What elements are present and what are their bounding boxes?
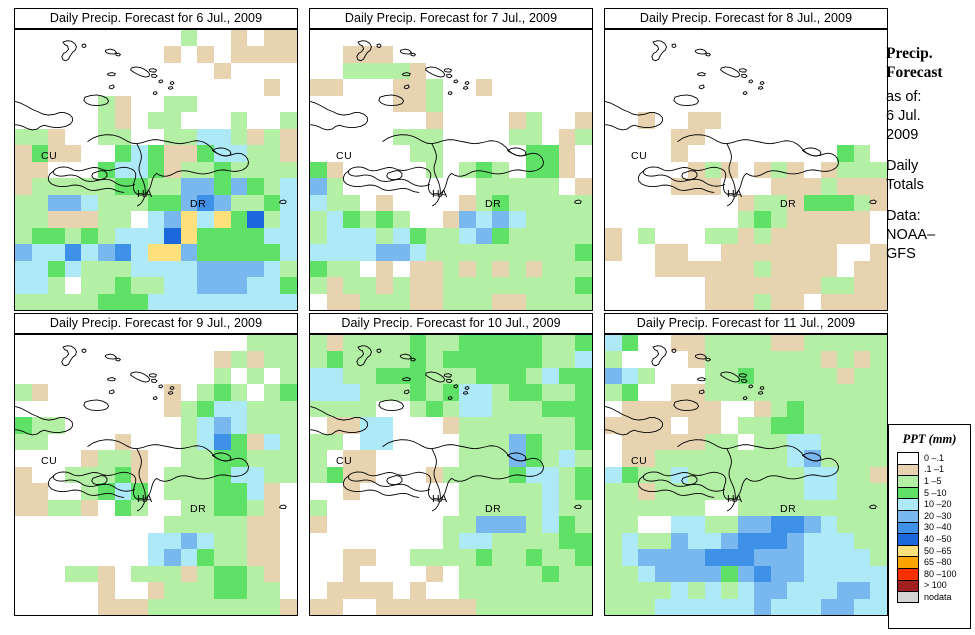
precip-cell xyxy=(638,384,655,400)
precip-cell xyxy=(837,483,854,499)
precip-cell xyxy=(48,384,65,400)
precip-cell xyxy=(542,467,559,483)
legend-swatch xyxy=(897,556,919,568)
precip-cell xyxy=(343,368,360,384)
precip-cell xyxy=(264,335,281,351)
precip-cell xyxy=(526,162,543,178)
precip-cell xyxy=(721,46,738,62)
precip-cell xyxy=(280,261,297,277)
precip-cell xyxy=(343,211,360,227)
precip-cell xyxy=(771,211,788,227)
precip-cell xyxy=(721,277,738,293)
precip-cell xyxy=(738,483,755,499)
precip-cell xyxy=(787,228,804,244)
precip-cell xyxy=(771,450,788,466)
precip-cell xyxy=(688,368,705,384)
precip-cell xyxy=(32,277,49,293)
precip-cell xyxy=(81,277,98,293)
precip-cell xyxy=(376,63,393,79)
legend-swatch xyxy=(897,498,919,510)
precip-cell xyxy=(164,467,181,483)
precip-cell xyxy=(738,533,755,549)
precip-cell xyxy=(870,549,887,565)
precip-cell xyxy=(164,30,181,46)
precip-cell xyxy=(310,294,327,310)
precip-cell xyxy=(65,599,82,615)
precip-cell xyxy=(754,261,771,277)
precip-cell xyxy=(310,483,327,499)
precip-cell xyxy=(32,549,49,565)
precip-cell xyxy=(264,129,281,145)
precip-cell xyxy=(65,261,82,277)
precip-cell xyxy=(343,129,360,145)
precip-cell xyxy=(738,368,755,384)
precip-cell xyxy=(181,195,198,211)
legend-row: 5 –10 xyxy=(897,487,970,499)
precip-cell xyxy=(310,417,327,433)
precip-cell xyxy=(622,599,639,615)
precip-cell xyxy=(181,46,198,62)
precip-cell xyxy=(360,145,377,161)
precip-cell xyxy=(821,30,838,46)
precip-cell xyxy=(48,467,65,483)
precip-cell xyxy=(115,401,132,417)
precip-cell xyxy=(98,46,115,62)
precip-cell xyxy=(821,533,838,549)
precip-cell xyxy=(476,549,493,565)
precip-cell xyxy=(131,483,148,499)
precip-cell xyxy=(32,79,49,95)
precip-cell xyxy=(98,129,115,145)
precip-cell xyxy=(837,277,854,293)
map-canvas-4[interactable]: CUHADR xyxy=(14,334,298,616)
legend-label: 40 –50 xyxy=(924,534,952,544)
precip-cell xyxy=(410,244,427,260)
legend-row: 0 –.1 xyxy=(897,452,970,464)
precip-cell xyxy=(754,145,771,161)
precip-cell xyxy=(575,549,592,565)
precip-cell xyxy=(181,599,198,615)
precip-cell xyxy=(343,467,360,483)
precip-cell xyxy=(231,244,248,260)
precip-cell xyxy=(655,401,672,417)
precip-cell xyxy=(327,533,344,549)
precip-cell xyxy=(81,178,98,194)
precip-cell xyxy=(804,582,821,598)
precip-cell xyxy=(721,384,738,400)
precip-cell xyxy=(32,483,49,499)
precip-cell xyxy=(605,533,622,549)
precip-cell xyxy=(492,566,509,582)
precip-cell xyxy=(526,483,543,499)
precip-cell xyxy=(671,195,688,211)
precip-cell xyxy=(310,351,327,367)
precip-cell xyxy=(131,112,148,128)
precip-cell xyxy=(738,162,755,178)
precip-cell xyxy=(231,129,248,145)
precip-cell xyxy=(247,483,264,499)
precip-cell xyxy=(459,46,476,62)
precip-cell xyxy=(15,211,32,227)
precip-cell xyxy=(688,401,705,417)
precip-cell xyxy=(280,434,297,450)
precip-cell xyxy=(426,566,443,582)
precip-cell xyxy=(526,582,543,598)
precip-cell xyxy=(81,96,98,112)
precip-cell xyxy=(164,384,181,400)
precip-cell xyxy=(65,294,82,310)
precip-cell xyxy=(264,30,281,46)
precip-cell xyxy=(32,244,49,260)
precip-cell xyxy=(605,450,622,466)
precip-cell xyxy=(443,516,460,532)
precip-cell xyxy=(197,30,214,46)
precip-cell xyxy=(443,549,460,565)
precip-cell xyxy=(459,162,476,178)
precip-cell xyxy=(164,335,181,351)
precip-cell xyxy=(32,384,49,400)
precip-cell xyxy=(115,79,132,95)
precip-cell xyxy=(575,417,592,433)
precip-cell xyxy=(705,417,722,433)
precip-cell xyxy=(360,368,377,384)
precip-cell xyxy=(393,63,410,79)
precip-cell xyxy=(197,244,214,260)
legend-rows: 0 –.1.1 –11 –55 –1010 –2020 –3030 –4040 … xyxy=(897,452,970,603)
precip-cell xyxy=(804,162,821,178)
precip-cell xyxy=(542,549,559,565)
precip-cell xyxy=(98,582,115,598)
precip-cell xyxy=(231,79,248,95)
precip-cell xyxy=(376,145,393,161)
precip-cell xyxy=(164,63,181,79)
precip-cell xyxy=(310,384,327,400)
precip-cell xyxy=(115,277,132,293)
precip-cell xyxy=(671,549,688,565)
precip-cell xyxy=(622,63,639,79)
precip-cell xyxy=(280,533,297,549)
precip-cell xyxy=(738,434,755,450)
precip-cell xyxy=(575,335,592,351)
precip-cell xyxy=(575,450,592,466)
precip-cell xyxy=(837,500,854,516)
precip-cell xyxy=(787,401,804,417)
precip-cell xyxy=(476,96,493,112)
precip-cell xyxy=(115,244,132,260)
precip-cell xyxy=(821,277,838,293)
precip-cell xyxy=(98,467,115,483)
precip-cell xyxy=(264,261,281,277)
precip-cell xyxy=(148,582,165,598)
precip-cell xyxy=(854,434,871,450)
precip-cell xyxy=(426,450,443,466)
precip-cell xyxy=(181,112,198,128)
precip-cell xyxy=(164,244,181,260)
precip-cell xyxy=(443,500,460,516)
precip-cell xyxy=(854,483,871,499)
precip-cell xyxy=(721,417,738,433)
precip-cell xyxy=(214,434,231,450)
precip-cell xyxy=(705,211,722,227)
precip-cell xyxy=(721,112,738,128)
precip-cell xyxy=(115,582,132,598)
precip-cell xyxy=(671,30,688,46)
precip-cell xyxy=(655,211,672,227)
precip-cell xyxy=(343,483,360,499)
precip-cell xyxy=(181,434,198,450)
precip-cell xyxy=(476,417,493,433)
precip-cell xyxy=(214,500,231,516)
precip-cell xyxy=(509,129,526,145)
precip-cell xyxy=(721,483,738,499)
precip-cell xyxy=(492,112,509,128)
precip-cell xyxy=(787,434,804,450)
precip-cell xyxy=(754,450,771,466)
precip-cell xyxy=(754,582,771,598)
precip-cell xyxy=(131,46,148,62)
precip-cell xyxy=(622,549,639,565)
precip-cell xyxy=(197,599,214,615)
precip-cell xyxy=(410,335,427,351)
precip-cell xyxy=(360,112,377,128)
map-canvas-2[interactable]: CUHADR xyxy=(309,29,593,311)
precip-cell xyxy=(509,417,526,433)
precip-cell xyxy=(705,516,722,532)
precip-cell xyxy=(787,351,804,367)
precip-cell xyxy=(426,294,443,310)
map-canvas-5[interactable]: CUHADR xyxy=(309,334,593,616)
precip-cell xyxy=(787,599,804,615)
precip-cell xyxy=(443,450,460,466)
precip-cell xyxy=(605,417,622,433)
precip-cell xyxy=(15,244,32,260)
legend-title: PPT (mm) xyxy=(889,432,970,447)
precip-cell xyxy=(393,483,410,499)
precip-cell xyxy=(688,599,705,615)
precip-cell xyxy=(854,63,871,79)
precip-cell xyxy=(360,533,377,549)
precip-cell xyxy=(98,145,115,161)
precip-cell xyxy=(410,582,427,598)
precip-cell xyxy=(376,162,393,178)
precip-cell xyxy=(310,500,327,516)
precip-cell xyxy=(197,417,214,433)
precip-cell xyxy=(671,294,688,310)
precip-cell xyxy=(476,30,493,46)
precip-cell xyxy=(81,483,98,499)
legend-row: > 100 xyxy=(897,580,970,592)
precip-cell xyxy=(264,516,281,532)
precip-cell xyxy=(247,277,264,293)
precip-cell xyxy=(638,79,655,95)
precip-cell xyxy=(81,384,98,400)
precip-cell xyxy=(837,244,854,260)
precip-cell xyxy=(443,112,460,128)
precip-cell xyxy=(638,162,655,178)
precip-cell xyxy=(459,228,476,244)
precip-cell xyxy=(426,261,443,277)
precip-cell xyxy=(247,533,264,549)
precip-cell xyxy=(197,582,214,598)
precip-cell xyxy=(280,96,297,112)
precip-cell xyxy=(410,112,427,128)
precip-cell xyxy=(32,63,49,79)
precip-cell xyxy=(343,500,360,516)
precip-cell xyxy=(804,533,821,549)
precip-cell xyxy=(327,244,344,260)
precip-cell xyxy=(131,79,148,95)
precip-cell xyxy=(393,145,410,161)
precip-cell xyxy=(393,566,410,582)
precip-cell xyxy=(542,599,559,615)
precip-cell xyxy=(476,401,493,417)
precip-cell xyxy=(280,294,297,310)
precip-cell xyxy=(376,566,393,582)
precip-cell xyxy=(181,500,198,516)
precip-cell xyxy=(327,195,344,211)
precip-cell xyxy=(98,368,115,384)
precip-cell xyxy=(48,450,65,466)
precip-cell xyxy=(410,277,427,293)
legend-row: 1 –5 xyxy=(897,475,970,487)
precip-cell xyxy=(671,351,688,367)
precip-cell xyxy=(605,79,622,95)
precip-cell xyxy=(393,277,410,293)
precip-cell xyxy=(721,294,738,310)
precip-cell xyxy=(622,277,639,293)
legend-row: 10 –20 xyxy=(897,498,970,510)
precip-cell xyxy=(443,244,460,260)
precip-cell xyxy=(542,277,559,293)
precip-cell xyxy=(492,483,509,499)
precip-cell xyxy=(754,599,771,615)
precip-cell xyxy=(343,599,360,615)
precip-cell xyxy=(376,335,393,351)
precip-cell xyxy=(688,129,705,145)
precip-cell xyxy=(98,351,115,367)
precip-grid-6 xyxy=(605,335,887,615)
precip-cell xyxy=(247,335,264,351)
precip-cell xyxy=(804,228,821,244)
precip-cell xyxy=(509,549,526,565)
precip-cell xyxy=(575,63,592,79)
precip-cell xyxy=(115,211,132,227)
precip-cell xyxy=(542,244,559,260)
precip-cell xyxy=(754,244,771,260)
precip-cell xyxy=(638,129,655,145)
precip-cell xyxy=(787,483,804,499)
precip-cell xyxy=(575,351,592,367)
precip-cell xyxy=(181,261,198,277)
precip-cell xyxy=(542,30,559,46)
precip-cell xyxy=(492,129,509,145)
precip-cell xyxy=(231,450,248,466)
precip-cell xyxy=(476,195,493,211)
precip-cell xyxy=(638,582,655,598)
precip-cell xyxy=(870,351,887,367)
precip-cell xyxy=(837,129,854,145)
precip-cell xyxy=(787,277,804,293)
precip-cell xyxy=(426,112,443,128)
precip-cell xyxy=(360,277,377,293)
precip-cell xyxy=(115,516,132,532)
precip-cell xyxy=(705,228,722,244)
precip-cell xyxy=(264,244,281,260)
precip-cell xyxy=(655,145,672,161)
precip-cell xyxy=(787,195,804,211)
precip-cell xyxy=(197,401,214,417)
precip-cell xyxy=(393,195,410,211)
precip-cell xyxy=(837,434,854,450)
precip-cell xyxy=(81,434,98,450)
precip-cell xyxy=(605,112,622,128)
map-canvas-6[interactable]: CUHADR xyxy=(604,334,888,616)
precip-cell xyxy=(721,434,738,450)
precip-cell xyxy=(15,467,32,483)
precip-cell xyxy=(98,96,115,112)
precip-cell xyxy=(754,96,771,112)
precip-cell xyxy=(509,244,526,260)
precip-cell xyxy=(32,401,49,417)
precip-cell xyxy=(247,599,264,615)
precip-cell xyxy=(214,483,231,499)
map-canvas-1[interactable]: CUHADR xyxy=(14,29,298,311)
precip-cell xyxy=(622,294,639,310)
precip-cell xyxy=(638,96,655,112)
precip-cell xyxy=(443,178,460,194)
precip-cell xyxy=(65,30,82,46)
precip-cell xyxy=(721,211,738,227)
precip-cell xyxy=(705,178,722,194)
precip-cell xyxy=(738,384,755,400)
map-canvas-3[interactable]: CUHADR xyxy=(604,29,888,311)
precip-cell xyxy=(247,582,264,598)
precip-cell xyxy=(638,261,655,277)
precip-cell xyxy=(671,566,688,582)
precip-cell xyxy=(98,178,115,194)
precip-cell xyxy=(15,417,32,433)
precip-cell xyxy=(688,46,705,62)
precip-cell xyxy=(443,483,460,499)
precip-cell xyxy=(360,195,377,211)
precip-cell xyxy=(559,384,576,400)
precip-cell xyxy=(804,500,821,516)
precip-cell xyxy=(688,63,705,79)
precip-cell xyxy=(231,516,248,532)
precip-cell xyxy=(148,79,165,95)
precip-cell xyxy=(81,195,98,211)
precip-cell xyxy=(575,434,592,450)
precip-cell xyxy=(476,261,493,277)
precip-grid-4 xyxy=(15,335,297,615)
precip-cell xyxy=(360,244,377,260)
precip-cell xyxy=(32,335,49,351)
precip-cell xyxy=(343,533,360,549)
precip-cell xyxy=(164,434,181,450)
precip-cell xyxy=(231,582,248,598)
precip-cell xyxy=(247,195,264,211)
precip-cell xyxy=(15,450,32,466)
precip-cell xyxy=(787,162,804,178)
precip-cell xyxy=(15,63,32,79)
precip-cell xyxy=(48,401,65,417)
precip-cell xyxy=(426,549,443,565)
precip-cell xyxy=(821,79,838,95)
precip-cell xyxy=(32,178,49,194)
precip-cell xyxy=(98,417,115,433)
precip-cell xyxy=(393,500,410,516)
precip-cell xyxy=(492,244,509,260)
